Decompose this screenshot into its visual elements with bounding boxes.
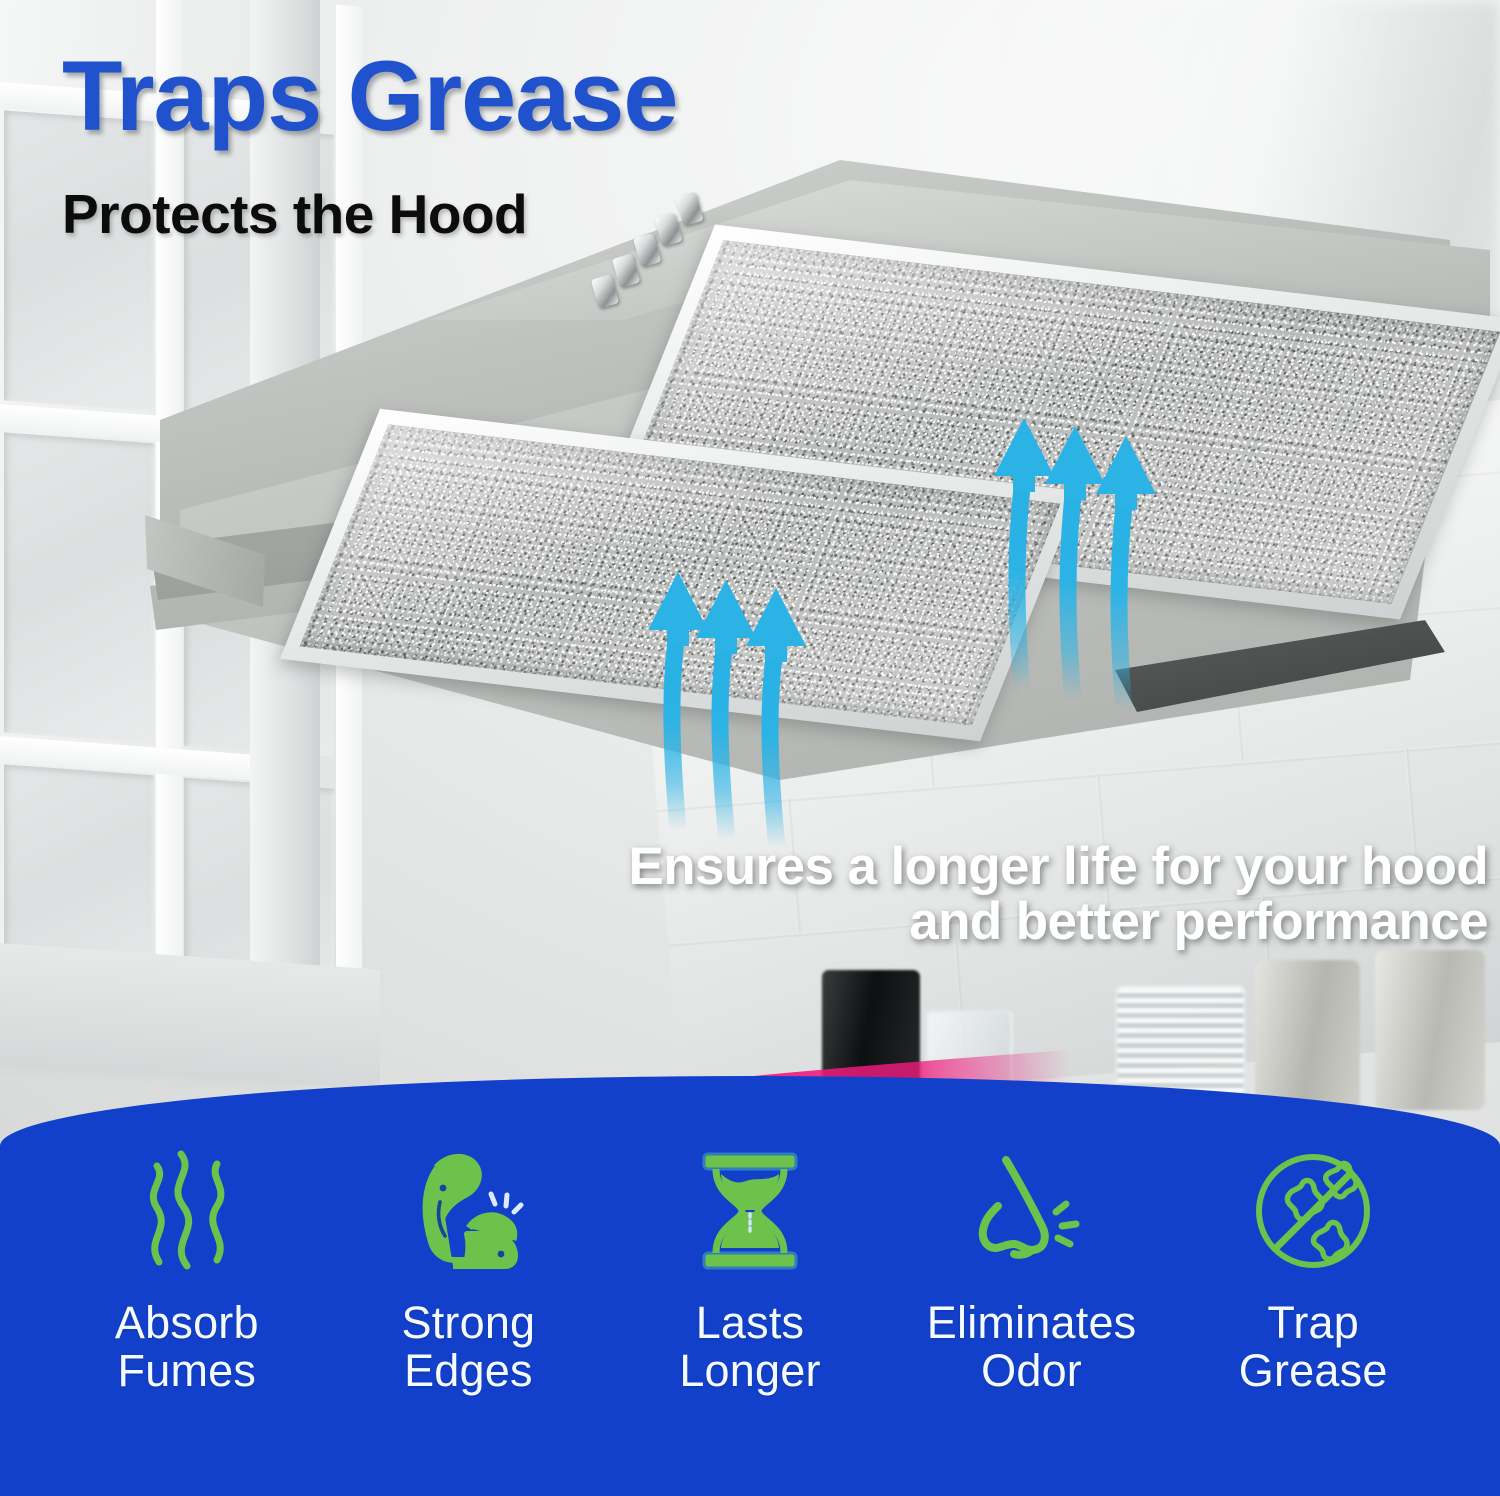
product-marketing-image: Traps Grease Protects the Hood Ensures a… (0, 0, 1500, 1496)
feature-label: Strong Edges (402, 1299, 536, 1395)
feature-strong-edges: Strong Edges (328, 1148, 610, 1395)
feature-label: Eliminates Odor (927, 1299, 1137, 1395)
feature-label: Trap Grease (1239, 1299, 1388, 1395)
feature-label: Lasts Longer (679, 1299, 820, 1395)
hourglass-icon (698, 1148, 802, 1273)
no-grease-icon (1252, 1148, 1374, 1273)
feature-banner: Absorb Fumes (0, 1076, 1500, 1496)
hood-switch (612, 253, 640, 288)
hood-switch (675, 192, 703, 227)
feature-label: Absorb Fumes (115, 1299, 259, 1395)
fumes-waves-icon (131, 1148, 243, 1273)
nose-smell-icon (970, 1148, 1094, 1273)
benefit-line-1: Ensures a longer life for your (628, 837, 1346, 896)
flexed-bicep-icon (407, 1148, 529, 1273)
page-subtitle: Protects the Hood (62, 182, 527, 246)
hood-switch (633, 233, 661, 268)
feature-absorb-fumes: Absorb Fumes (46, 1148, 328, 1395)
benefit-statement: Ensures a longer life for your hood and … (548, 840, 1488, 949)
hood-switch (654, 212, 682, 247)
feature-lasts-longer: Lasts Longer (609, 1148, 891, 1395)
feature-eliminates-odor: Eliminates Odor (891, 1148, 1173, 1395)
feature-trap-grease: Trap Grease (1172, 1148, 1454, 1395)
page-title: Traps Grease (62, 44, 677, 149)
